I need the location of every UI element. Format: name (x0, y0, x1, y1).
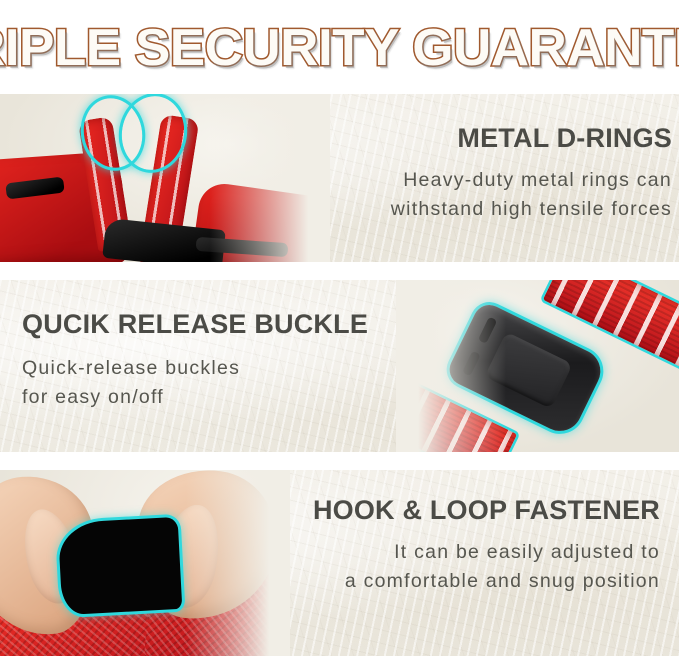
feature-text-metal-d-rings: METAL D-RINGS Heavy-duty metal rings can… (336, 124, 672, 224)
feature-body-line-2: a comfortable and snug position (266, 567, 660, 596)
feature-body-line-1: Quick-release buckles (22, 354, 402, 383)
photo-quick-release-buckle (396, 280, 679, 452)
feature-heading: HOOK & LOOP FASTENER (266, 496, 660, 524)
title-banner: TRIPLE SECURITY GUARANTEE (0, 0, 679, 94)
feature-body-line-1: Heavy-duty metal rings can (336, 166, 672, 195)
velcro-patch-icon (58, 517, 183, 615)
feature-text-quick-release-buckle: QUCIK RELEASE BUCKLE Quick-release buckl… (22, 310, 402, 412)
photo-hook-and-loop-fastener (0, 470, 290, 656)
feature-body-line-1: It can be easily adjusted to (266, 538, 660, 567)
feature-body-line-2: withstand high tensile forces (336, 195, 672, 224)
photo-edge-fade (396, 280, 506, 452)
photo-metal-d-rings (0, 94, 330, 262)
page-title: TRIPLE SECURITY GUARANTEE (0, 22, 679, 74)
feature-heading: METAL D-RINGS (336, 124, 672, 152)
photo-edge-fade (210, 94, 330, 262)
feature-heading: QUCIK RELEASE BUCKLE (22, 310, 402, 338)
feature-body-line-2: for easy on/off (22, 383, 402, 412)
feature-text-hook-and-loop-fastener: HOOK & LOOP FASTENER It can be easily ad… (266, 496, 660, 596)
